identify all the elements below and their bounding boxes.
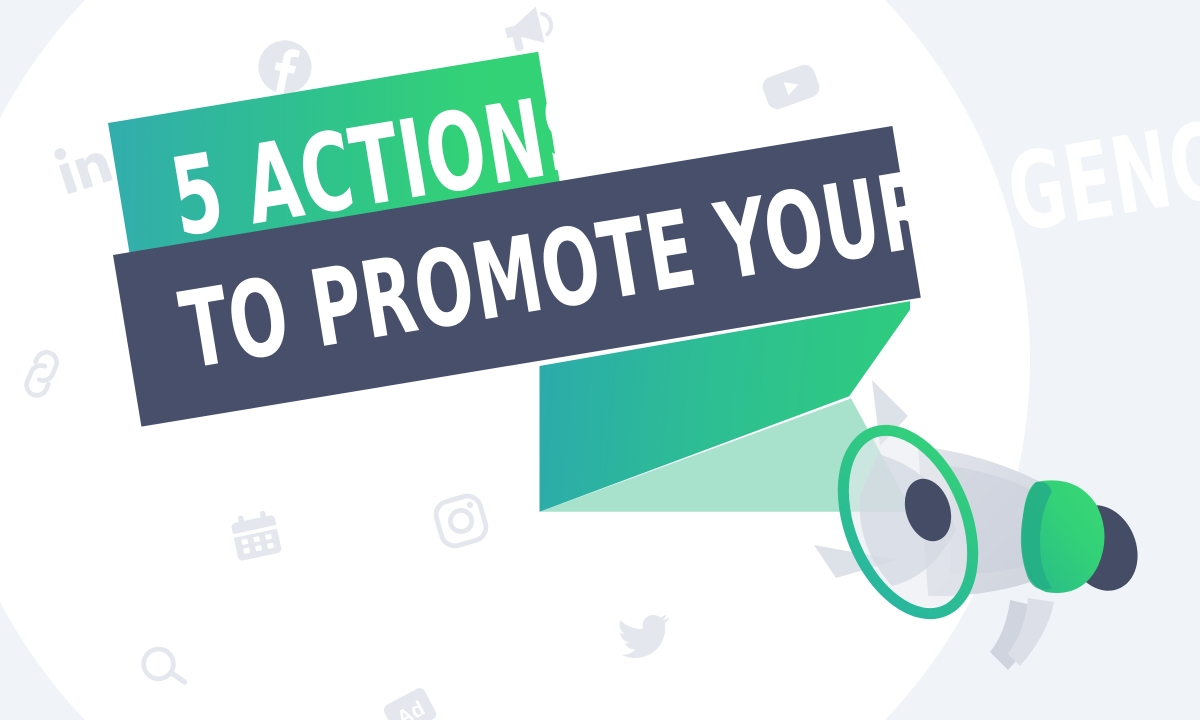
poster-canvas: Ad 5 ACTIONS TO PROMOTE YOUR AGENCY bbox=[0, 0, 1200, 720]
megaphone-handle bbox=[990, 598, 1054, 670]
megaphone-illustration bbox=[800, 370, 1160, 690]
